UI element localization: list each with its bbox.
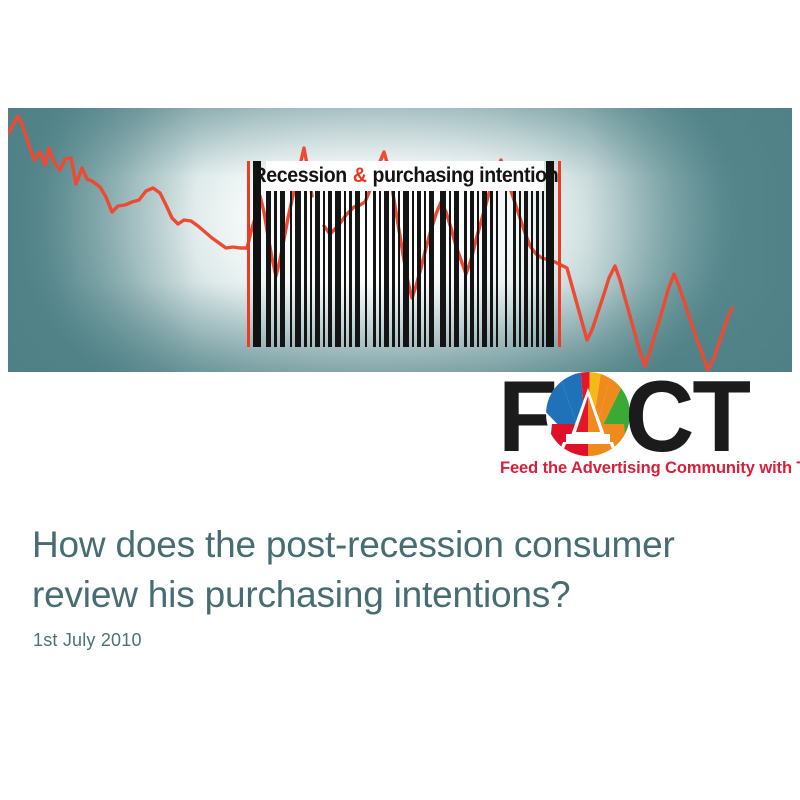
- slide-date: 1st July 2010: [33, 630, 142, 651]
- barcode-bar: [315, 191, 320, 347]
- barcode-bar: [365, 191, 367, 347]
- barcode-bar: [531, 191, 533, 347]
- barcode-bar: [384, 191, 389, 347]
- barcode-bar: [477, 191, 479, 347]
- fact-logo-a-mark-icon: [546, 372, 630, 456]
- slide-headline: How does the post-recession consumer rev…: [32, 520, 762, 619]
- barcode-bar: [505, 191, 507, 347]
- barcode-graphic: Recession & purchasing intention: [244, 161, 564, 347]
- barcode-bar: [542, 191, 544, 347]
- fact-logo: F: [494, 370, 792, 482]
- barcode-bar: [496, 191, 498, 347]
- hero-banner: Recession & purchasing intention: [8, 108, 792, 372]
- barcode-guard-bar-right: [546, 161, 554, 347]
- barcode-bar: [335, 191, 341, 347]
- barcode-label-prefix: Recession: [252, 164, 351, 187]
- barcode-bar: [328, 191, 332, 347]
- barcode-bar: [310, 191, 312, 347]
- barcode-bar: [280, 191, 285, 347]
- barcode-bars: [266, 191, 544, 347]
- barcode-bar: [464, 191, 467, 347]
- barcode-bar: [519, 191, 521, 347]
- barcode-bar: [454, 191, 459, 347]
- barcode-bar: [323, 191, 325, 347]
- barcode-bar: [424, 191, 426, 347]
- barcode-bar: [417, 191, 421, 347]
- barcode-bar: [403, 191, 409, 347]
- barcode-bar: [482, 191, 487, 347]
- barcode-bar: [429, 191, 434, 347]
- barcode-bar: [536, 191, 539, 347]
- barcode-bar: [349, 191, 352, 347]
- barcode-bar: [266, 191, 271, 347]
- barcode-bar: [290, 191, 292, 347]
- barcode-bar: [412, 191, 414, 347]
- barcode-guard-bar-left: [253, 161, 261, 347]
- barcode-bar: [274, 191, 277, 347]
- barcode-bar: [490, 191, 493, 347]
- barcode-label-suffix: purchasing intention: [367, 164, 558, 187]
- title-slide: Recession & purchasing intention F: [0, 0, 800, 800]
- barcode-bar: [398, 191, 400, 347]
- barcode-bar: [379, 191, 381, 347]
- barcode-bar: [470, 191, 474, 347]
- barcode-label-text: Recession & purchasing intention: [252, 164, 558, 188]
- barcode-edge-line-right: [558, 161, 561, 347]
- barcode-bar: [513, 191, 516, 347]
- barcode-bar: [355, 191, 360, 347]
- barcode-bar: [373, 191, 376, 347]
- fact-logo-tagline: Feed the Advertising Community with Tren…: [500, 458, 800, 478]
- barcode-bar: [524, 191, 528, 347]
- barcode-edge-line-left: [247, 161, 250, 347]
- barcode-bar: [440, 191, 446, 347]
- barcode-bar: [304, 191, 307, 347]
- barcode-label-ampersand: &: [352, 164, 368, 187]
- barcode-bar: [392, 191, 395, 347]
- barcode-label: Recession & purchasing intention: [266, 161, 544, 191]
- fact-logo-letters-ct: CT: [625, 367, 749, 468]
- barcode-bar: [295, 191, 301, 347]
- barcode-bar: [449, 191, 451, 347]
- barcode-bar: [344, 191, 346, 347]
